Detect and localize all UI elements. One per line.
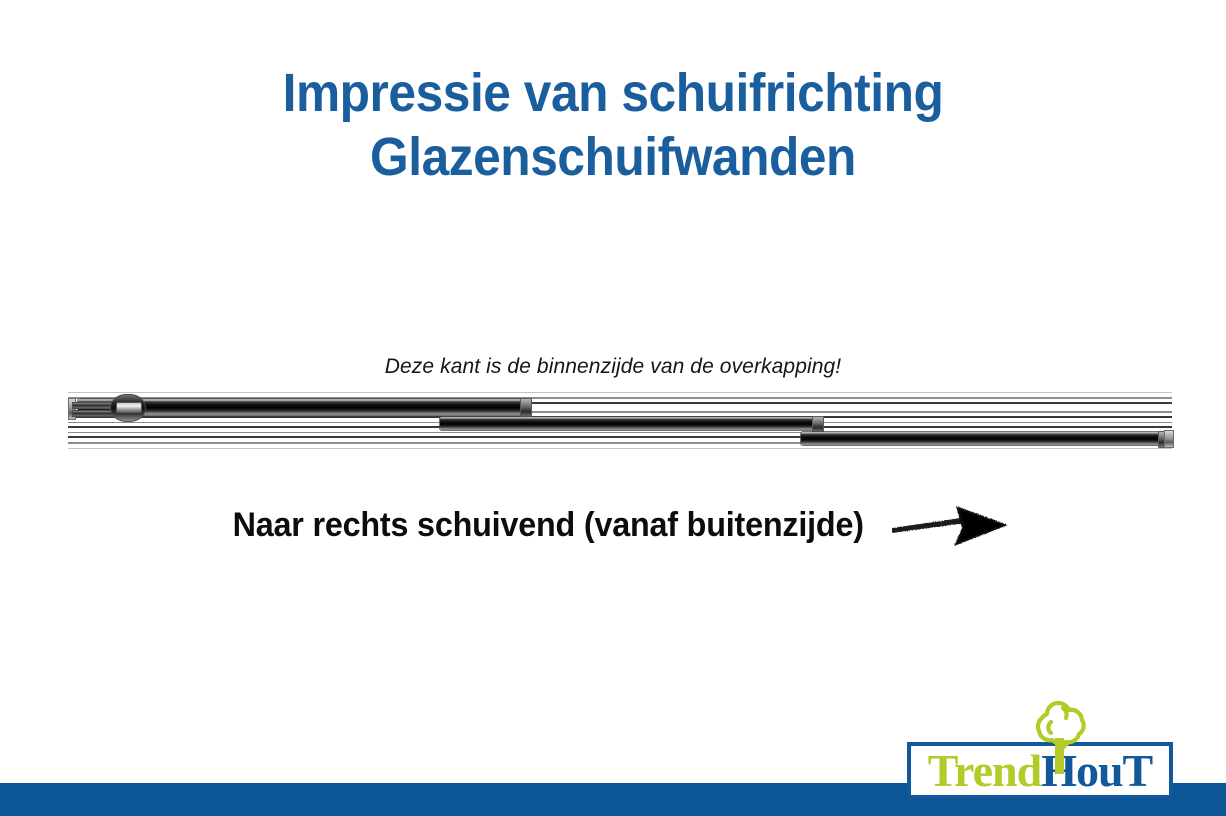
rail-guide-line [68, 392, 1172, 393]
page-title-line-2: Glazenschuifwanden [49, 126, 1177, 190]
sliding-panel-3[interactable] [801, 432, 1163, 445]
right-frame-jamb [1164, 430, 1174, 448]
rail-guide-line [68, 448, 1172, 449]
tree-icon [1023, 694, 1097, 780]
glass-sliding-wall-diagram [68, 392, 1172, 450]
slide-direction-label: Naar rechts schuivend (vanaf buitenzijde… [232, 506, 863, 545]
page-title: Impressie van schuifrichting Glazenschui… [0, 62, 1226, 189]
sliding-panel-2[interactable] [440, 417, 818, 430]
handle-lock-core[interactable] [116, 402, 142, 413]
sliding-panel-2-end-cap [812, 416, 824, 433]
sliding-panel-1-end-cap [520, 398, 532, 418]
inside-caption: Deze kant is de binnenzijde van de overk… [0, 355, 1226, 379]
slide-direction-row: Naar rechts schuivend (vanaf buitenzijde… [0, 498, 1226, 552]
page-title-line-1: Impressie van schuifrichting [49, 62, 1177, 126]
arrow-right-brush-icon [890, 498, 1010, 552]
